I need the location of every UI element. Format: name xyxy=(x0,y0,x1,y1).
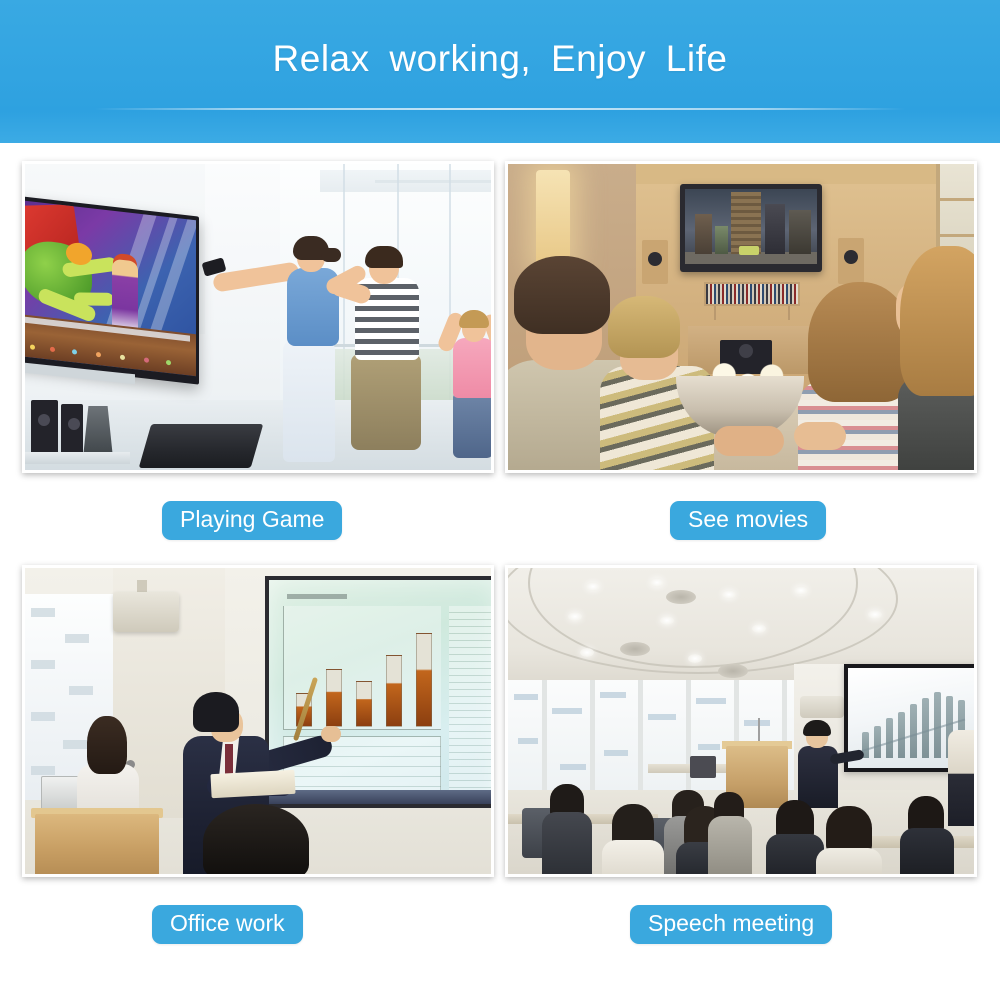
projector-icon xyxy=(113,592,179,632)
tv-screen-icon xyxy=(25,195,199,384)
feature-grid: Playing Game xyxy=(0,143,1000,1000)
badge-row: See movies xyxy=(505,473,977,540)
photo-frame[interactable] xyxy=(22,565,494,877)
scene-playing-game xyxy=(25,164,491,470)
status-badge-see-movies: See movies xyxy=(670,501,826,540)
scene-office-work xyxy=(25,568,491,874)
banner-divider xyxy=(95,108,905,110)
status-badge-playing-game: Playing Game xyxy=(162,501,342,540)
photo-frame[interactable] xyxy=(505,161,977,473)
photo-frame[interactable] xyxy=(22,161,494,473)
status-badge-speech-meeting: Speech meeting xyxy=(630,905,832,944)
panel-see-movies[interactable]: See movies xyxy=(505,161,977,540)
page-title: Relax working, Enjoy Life xyxy=(0,40,1000,77)
panel-office-work[interactable]: Office work xyxy=(22,565,494,944)
panel-speech-meeting[interactable]: Speech meeting xyxy=(505,565,977,944)
header-banner: Relax working, Enjoy Life xyxy=(0,0,1000,143)
badge-row: Speech meeting xyxy=(505,877,977,944)
projection-screen xyxy=(265,576,491,808)
tv-screen-icon xyxy=(680,184,822,272)
badge-row: Office work xyxy=(22,877,494,944)
projector-icon xyxy=(800,696,844,718)
status-badge-office-work: Office work xyxy=(152,905,303,944)
photo-frame[interactable] xyxy=(505,565,977,877)
scene-see-movies xyxy=(508,164,974,470)
badge-row: Playing Game xyxy=(22,473,494,540)
scene-speech-meeting xyxy=(508,568,974,874)
panel-playing-game[interactable]: Playing Game xyxy=(22,161,494,540)
